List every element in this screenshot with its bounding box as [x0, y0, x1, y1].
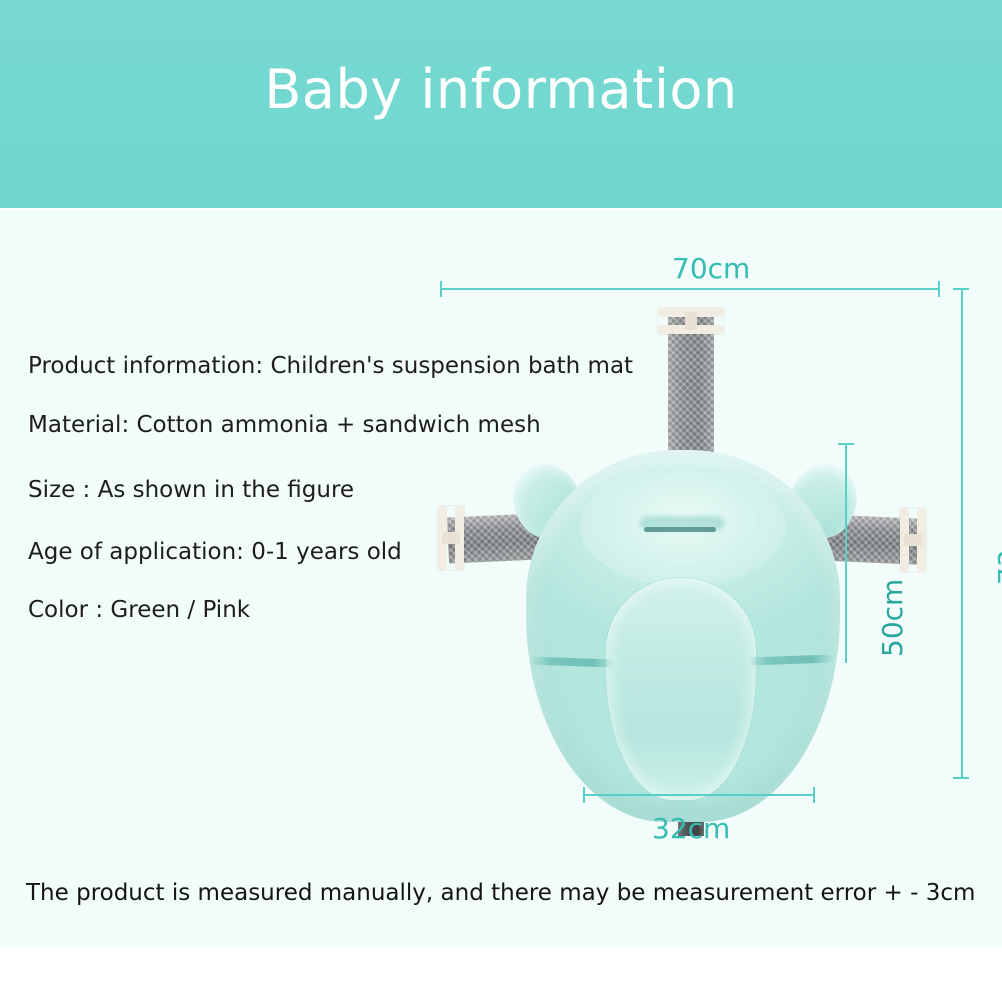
- dimension-line-width-top: [440, 288, 940, 290]
- spec-age: Age of application: 0-1 years old: [28, 539, 402, 565]
- dimension-tick-left: [440, 281, 442, 297]
- dimension-tick-right: [938, 281, 940, 297]
- head-slot: [644, 527, 716, 532]
- buckle-clip-top: [658, 308, 724, 334]
- spec-color: Color : Green / Pink: [28, 597, 250, 623]
- measurement-disclaimer: The product is measured manually, and th…: [26, 880, 975, 906]
- inner-body-pad: [606, 578, 756, 800]
- dimension-label-32cm: 32cm: [652, 812, 730, 845]
- bottom-white-strip: [0, 947, 1002, 1002]
- page-title: Baby information: [0, 58, 1002, 121]
- dimension-label-73cm: 73cm: [992, 507, 1002, 585]
- clip-stem: [904, 534, 922, 546]
- dimension-tick-left: [583, 787, 585, 803]
- dimension-line-height-right: [961, 289, 963, 779]
- dimension-line-height-inner: [845, 443, 847, 663]
- dimension-label-70cm: 70cm: [672, 252, 750, 285]
- dimension-line-width-bottom: [583, 794, 815, 796]
- spec-size: Size : As shown in the figure: [28, 477, 354, 503]
- bath-mat-cushion: [508, 430, 858, 830]
- clip-stem: [685, 312, 697, 330]
- dimension-label-50cm: 50cm: [876, 579, 909, 657]
- dimension-tick-top: [953, 288, 969, 290]
- header-band: Baby information: [0, 0, 1002, 208]
- dimension-tick-bottom: [953, 777, 969, 779]
- product-illustration: [430, 300, 930, 820]
- dimension-tick-top: [838, 443, 854, 445]
- clip-stem: [442, 532, 460, 544]
- dimension-tick-right: [813, 787, 815, 803]
- buckle-clip-left: [438, 506, 464, 570]
- product-info-image: Baby information Product information: Ch…: [0, 0, 1002, 1002]
- buckle-clip-right: [900, 508, 926, 572]
